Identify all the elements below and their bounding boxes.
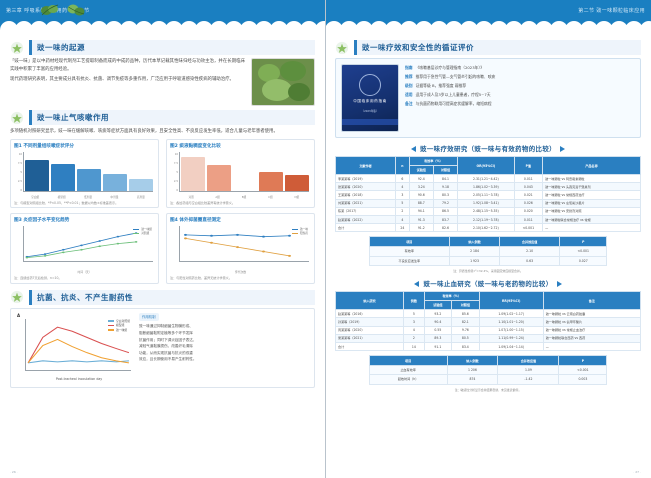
bar (77, 169, 101, 190)
banner-arrow-right-icon (560, 146, 565, 152)
kv-value: 证据等级 B，推荐强度 弱推荐 (416, 82, 635, 89)
cell-author: 陈某（2017） (336, 207, 396, 215)
chart-card-2: 图2 痰液黏稠度变化比较 10 7.5 5 2.5 0 (166, 139, 315, 209)
table-row: 周某某等（2020） 4 0.55 9.76 1.07(1.00~1.15) 豉… (336, 326, 641, 334)
bar (103, 174, 127, 190)
summary-table-2: 项目 纳入例数 合并效应值 P 止血有效率 1 206 1.09 <0.001 (369, 355, 608, 385)
cell-control: 9.76 (452, 326, 479, 334)
sum2-cell: -1.42 (498, 375, 559, 384)
sum2-th-effect: 合并效应值 (498, 356, 559, 366)
cell-note: 豉一味颗粒 vs 氨甲环酸片 (543, 318, 640, 326)
chart-yaxis-2 (179, 152, 180, 192)
chart-legend-4: 豉一味 阳性药 (292, 227, 308, 235)
cell-control: 85.6 (452, 310, 479, 318)
cell-author: 张某某等（2020） (336, 183, 396, 191)
cell-note: — (543, 342, 640, 350)
sum-cell: 0.027 (560, 256, 607, 265)
charts-row-1: 图1 不同剂量组咳嗽症状评分 10 7.5 5 2.5 0 (10, 139, 315, 209)
chart-title-4: 图4 体外抑菌圈直径测定 (170, 217, 311, 223)
mechanism-legend: 空白对照组 模型组 豉一味组 (108, 319, 130, 332)
table1-banner-text: 豉一味疗效研究（豉一味与有效药物的比较） (420, 144, 556, 153)
book-cover-image: 中国临床用药指南 （2023年版） (341, 64, 399, 132)
cell-n: 4 (396, 183, 410, 191)
cell-control: 86.5 (433, 207, 457, 215)
cell-author: 李某某等（2019） (336, 175, 396, 183)
summary-header-row: 项目 纳入例数 合并效应值 P (369, 356, 607, 366)
table-row-total: 合计 14 91.1 83.4 1.09(1.04~1.14) — (336, 342, 641, 350)
guideline-kv-list: 指南《咳嗽基层诊疗与管理指南（2023年）》 推荐推荐用于急性气管—支气管炎引起… (405, 64, 635, 132)
chart-title-3: 图3 炎症因子水平变化趋势 (14, 217, 155, 223)
sum2-th-item: 项目 (369, 356, 447, 366)
kv-key: 指南 (405, 64, 413, 71)
cell-p: 0.021 (514, 191, 542, 199)
summary-table-1: 项目 纳入例数 合并效应值 P 有效率 2 184 2.10 <0.001 (369, 236, 608, 266)
cell-product: 豉一味颗粒 vs 左氧氟沙星片 (543, 199, 641, 207)
chart-card-4: 图4 体外抑菌圈直径测定 (166, 213, 315, 284)
cell-product: 豉一味颗粒 vs 安慰剂对照 (543, 207, 641, 215)
kv-value: 与抗菌药物联用可提高症状缓解率，缩短病程 (416, 100, 635, 107)
cell-control: 79.2 (433, 199, 457, 207)
table-row: 王某某等（2018） 3 90.6 80.3 2.05(1.11~3.78) 0… (336, 191, 641, 199)
chart-xlabel-3: 时间（天） (14, 270, 155, 274)
table1-banner: 豉一味疗效研究（豉一味与有效药物的比较） (335, 144, 641, 153)
kv-value: 推荐用于急性气管—支气管炎引起的咳嗽、咳痰 (416, 73, 635, 80)
cell-product: 豉一味颗粒 vs 常规西药治疗 (543, 191, 641, 199)
kv-value: 《咳嗽基层诊疗与管理指南（2023年）》 (416, 64, 635, 71)
page-gutter-divider (325, 0, 326, 478)
sum-cell: <0.001 (560, 247, 607, 256)
sum-cell: 不良反应发生率 (369, 256, 449, 265)
banner-arrow-left-icon-2 (414, 281, 419, 287)
cell-author: 合计 (336, 224, 396, 232)
kv-row: 适用适用于成人及3岁以上儿童患者，疗程5~7天 (405, 91, 635, 98)
table-row: 张某某等（2020） 4 3.24 9.18 1.86(1.02~3.39) 0… (336, 183, 641, 191)
cell-n: 3 (396, 191, 410, 199)
chart-xticks-2: 对照 A组 B组 C组 D组 (179, 195, 309, 199)
cell-control: 84.1 (433, 175, 457, 183)
sum2-cell: 874 (447, 375, 498, 384)
cell-product: 豉一味颗粒联合常规治疗 vs 常规 (543, 216, 641, 224)
cell-control: 82.6 (433, 224, 457, 232)
sum2-cell: 止血有效率 (369, 366, 447, 375)
mechanism-line-5: 功能，从而实现抗菌与抗炎的双重 (139, 350, 310, 357)
cell-test: 89.3 (424, 334, 451, 342)
cell-or: 2.48(1.15~5.35) (458, 207, 515, 215)
origin-body: 「豉一味」是以中药材经现代制剂工艺提取制备而成的中成药品种，历代本草记载其性味归… (10, 58, 315, 106)
cell-p: 0.020 (514, 207, 542, 215)
th2-rr: RR(95%CI) (479, 292, 543, 310)
cell-test: 91.2 (409, 224, 433, 232)
cell-n: 6 (396, 175, 410, 183)
chart-legend-3: 豉一味组 对照组 (133, 227, 152, 235)
right-page-number: · 27 · (633, 470, 641, 474)
cell-test: 90.4 (424, 318, 451, 326)
cell-test: 91.1 (424, 342, 451, 350)
right-content: 豉一味疗效和安全性的循证评价 中国临床用药指南 （2023年版） 指南《咳嗽基层… (325, 30, 651, 392)
mechanism-xlabel: Post-tracheal inoculation day (25, 377, 133, 381)
chart-plot-3: 豉一味组 对照组 (14, 225, 155, 269)
book-band (342, 119, 398, 125)
chart-yaxis-1 (23, 152, 24, 192)
bar (233, 168, 257, 190)
plant-photo (251, 58, 315, 106)
cell-control: 83.7 (433, 216, 457, 224)
cell-n: 5 (396, 199, 410, 207)
mechanism-line-6: 效应，且长期使用不易产生耐药性。 (139, 356, 310, 363)
origin-paragraph-1: 「豉一味」是以中药材经现代制剂工艺提取制备而成的中成药品种，历代本草记载其性味归… (10, 58, 245, 73)
cell-control: 80.5 (452, 334, 479, 342)
section-heading-text-3: 抗菌、抗炎、不产生耐药性 (29, 290, 315, 305)
cell-study: 赵某某等（2016） (336, 310, 404, 318)
cell-test: 88.7 (409, 199, 433, 207)
sum-cell: 2 184 (449, 247, 499, 256)
section-title-origin: 豉一味的起源 (10, 40, 315, 55)
table-row: 孙某等（2019） 3 90.4 82.1 1.10(1.01~1.20) 豉一… (336, 318, 641, 326)
sum-th-p: P (560, 237, 607, 247)
cell-test: 3.24 (409, 183, 433, 191)
left-lace-border (0, 21, 325, 30)
table-header-row: 纳入研究 例数 有效率（%） RR(95%CI) 备注 (336, 292, 641, 301)
kv-key: 适用 (405, 91, 413, 98)
th2-test: 试验组 (424, 301, 451, 310)
kv-row: 级别证据等级 B，推荐强度 弱推荐 (405, 82, 635, 89)
right-lace-border (325, 21, 651, 30)
cell-rr: 1.09(1.02~1.17) (479, 310, 543, 318)
cell-study: 孙某等（2019） (336, 318, 404, 326)
chart-note-4: 注：与阳性对照药比较，差异无统计学意义。 (170, 276, 311, 281)
summary-row: 止血有效率 1 206 1.09 <0.001 (369, 366, 607, 375)
bar (129, 179, 153, 191)
cell-n: 3 (404, 318, 425, 326)
section-title-cough: 豉一味止气咳嗽作用 (10, 110, 315, 125)
right-page: 第二节 豉一味颗粒临床应用 豉一味疗效和安全性的循证评价 (325, 0, 651, 478)
cell-study: 合计 (336, 342, 404, 350)
cell-rr: 1.07(1.00~1.15) (479, 326, 543, 334)
cell-rr: 1.09(1.04~1.14) (479, 342, 543, 350)
cell-note: 豉一味颗粒 vs 云南白药胶囊 (543, 310, 640, 318)
summary-row: 起效时间（h） 874 -1.42 0.003 (369, 375, 607, 384)
chart-xlabel-4: 传代次数 (170, 270, 311, 274)
guideline-info-box: 中国临床用药指南 （2023年版） 指南《咳嗽基层诊疗与管理指南（2023年）》… (335, 58, 641, 138)
mechanism-line-1: 豉一味通过抑制细菌生物膜形成、 (139, 323, 310, 330)
cell-n: 2 (396, 207, 410, 215)
cell-or: 1.86(1.02~3.39) (458, 183, 515, 191)
table2-banner-text: 豉一味止血研究（豉一味与老药物的比较） (423, 279, 552, 288)
sum-cell: 有效率 (369, 247, 449, 256)
th2-rate: 有效率（%） (424, 292, 479, 301)
leaf-decoration-icon-2 (66, 2, 86, 18)
bar (181, 157, 205, 191)
cell-test: 92.4 (409, 175, 433, 183)
kv-key: 备注 (405, 100, 413, 107)
right-header-band: 第二节 豉一味颗粒临床应用 (325, 0, 651, 30)
th2-n: 例数 (404, 292, 425, 310)
kv-row: 推荐推荐用于急性气管—支气管炎引起的咳嗽、咳痰 (405, 73, 635, 80)
sum-cell: 2.10 (500, 247, 560, 256)
cell-test: 94.1 (409, 207, 433, 215)
bar (285, 175, 309, 191)
chart-card-3: 图3 炎症因子水平变化趋势 (10, 213, 159, 284)
mechanism-line-3: 抗菌作用；同时下调炎症因子表达， (139, 337, 310, 344)
cell-note: 豉一味颗粒 vs 常规止血治疗 (543, 326, 640, 334)
chart-yticks-1: 10 7.5 5 2.5 0 (14, 153, 23, 192)
table-row: 刘某某等（2021） 5 88.7 79.2 1.92(1.08~3.41) 0… (336, 199, 641, 207)
cell-study: 周某某等（2020） (336, 326, 404, 334)
bar (259, 172, 283, 190)
efficacy-table: 文献作者 n 有效率（%） OR(95%CI) P值 产品名称 试验组 对照组 (335, 156, 641, 232)
left-content: 豉一味的起源 「豉一味」是以中药材经现代制剂工艺提取制备而成的中成药品种，历代本… (0, 30, 325, 388)
chart-title-2: 图2 痰液黏稠度变化比较 (170, 143, 311, 149)
cell-note: 豉一味颗粒联合西药 vs 西药 (543, 334, 640, 342)
cell-or: 2.10(1.62~2.72) (458, 224, 515, 232)
table-row: 赵某某等（2022） 4 91.3 83.7 2.12(1.19~3.78) 0… (336, 216, 641, 224)
cell-control: 80.3 (433, 191, 457, 199)
table-row: 李某某等（2019） 6 92.4 84.1 2.31(1.21~4.42) 0… (336, 175, 641, 183)
table2-banner: 豉一味止血研究（豉一味与老药物的比较） (335, 279, 641, 288)
kv-key: 推荐 (405, 73, 413, 80)
table-header-row: 文献作者 n 有效率（%） OR(95%CI) P值 产品名称 (336, 157, 641, 166)
bar (51, 164, 75, 191)
mechanism-box: A 空白对照组 模型组 (10, 308, 315, 388)
th-rate: 有效率（%） (409, 157, 457, 166)
flower-badge-icon-4 (335, 41, 349, 55)
sum-th-item: 项目 (369, 237, 449, 247)
chart-title-1: 图1 不同剂量组咳嗽症状评分 (14, 143, 155, 149)
cell-n: 4 (404, 326, 425, 334)
chart-lines-4 (179, 227, 309, 262)
cell-author: 赵某某等（2022） (336, 216, 396, 224)
chart-xaxis-2 (179, 191, 309, 192)
mechanism-line-2: 阻断细菌黏附定植等多个环节发挥 (139, 330, 310, 337)
chart-bars-2 (181, 153, 309, 191)
cell-product: 豉一味颗粒 vs 头孢克洛干混悬剂 (543, 183, 641, 191)
mechanism-line-4: 减轻气道黏膜损伤，改善纤毛清除 (139, 343, 310, 350)
cell-p: <0.001 (514, 224, 542, 232)
banner-arrow-left-icon (411, 146, 416, 152)
chart-xticks-1: 空白组 模型组 低剂量 中剂量 高剂量 (23, 195, 153, 199)
sum-cell: 1 923 (449, 256, 499, 265)
book-title: 中国临床用药指南 (346, 99, 394, 104)
cell-product: 豉一味颗粒 vs 阿奇霉素颗粒 (543, 175, 641, 183)
book-spread-page: 第三章 呼吸系统疾病用药 · 第一节 (0, 0, 651, 478)
table-row: 吴某某等（2021） 2 89.3 80.5 1.11(0.99~1.24) 豉… (336, 334, 641, 342)
sum2-cell: 1.09 (498, 366, 559, 375)
cell-author: 王某某等（2018） (336, 191, 396, 199)
left-page-number: · 26 · (10, 470, 18, 474)
th-product: 产品名称 (543, 157, 641, 175)
sum2-cell: 0.003 (559, 375, 607, 384)
cell-test: 93.2 (424, 310, 451, 318)
chart-note-3: 注：连续给药7天后检测，n=10。 (14, 276, 155, 281)
banner-arrow-right-icon-2 (557, 281, 562, 287)
sum-cell: 0.63 (500, 256, 560, 265)
th2-control: 对照组 (452, 301, 479, 310)
sum2-cell: 起效时间（h） (369, 375, 447, 384)
mechanism-plot-label: A (17, 313, 20, 318)
section-heading-text-2: 豉一味止气咳嗽作用 (29, 110, 315, 125)
chart-plot-2: 10 7.5 5 2.5 0 (170, 151, 311, 199)
summary2-footnote: 注：敏感性分析显示合并结果稳健，未见发表偏倚。 (335, 388, 641, 392)
chart-note-1: 注：与模型对照组比较，*P<0.05，**P<0.01；数据以均数±标准差表示。 (14, 201, 155, 206)
bar (25, 160, 49, 191)
section-heading-text-4: 豉一味疗效和安全性的循证评价 (354, 40, 641, 55)
table-row-total: 合计 24 91.2 82.6 2.10(1.62~2.72) <0.001 — (336, 224, 641, 232)
th-or: OR(95%CI) (458, 157, 515, 175)
section-title-mechanism: 抗菌、抗炎、不产生耐药性 (10, 290, 315, 305)
cough-paragraph: 多项随机对照研究显示，豉一味在缓解咳嗽、咳痰等症状方面具有良好效果，且安全性高、… (10, 128, 315, 136)
origin-paragraph-2: 现代药理研究表明，其主要成分具有抗炎、抗菌、调节免疫等多重作用，广泛应用于呼吸道… (10, 76, 245, 84)
leaf-decoration-icon (40, 2, 60, 18)
cell-test: 90.6 (409, 191, 433, 199)
chart-bars-1 (25, 153, 153, 191)
chart-plot-1: 10 7.5 5 2.5 0 (14, 151, 155, 199)
section-title-evidence: 豉一味疗效和安全性的循证评价 (335, 40, 641, 55)
sum2-cell: <0.001 (559, 366, 607, 375)
th2-study: 纳入研究 (336, 292, 404, 310)
summary-row: 不良反应发生率 1 923 0.63 0.027 (369, 256, 607, 265)
th-control-group: 对照组 (433, 166, 457, 175)
cell-test: 0.55 (424, 326, 451, 334)
cell-n: 2 (404, 334, 425, 342)
cell-author: 刘某某等（2021） (336, 199, 396, 207)
cell-study: 吴某某等（2021） (336, 334, 404, 342)
summary-header-row: 项目 纳入例数 合并效应值 P (369, 237, 607, 247)
th2-note: 备注 (543, 292, 640, 310)
hemostasis-table: 纳入研究 例数 有效率（%） RR(95%CI) 备注 试验组 对照组 (335, 291, 641, 351)
cell-n: 5 (404, 310, 425, 318)
chart-card-1: 图1 不同剂量组咳嗽症状评分 10 7.5 5 2.5 0 (10, 139, 159, 209)
sum2-cell: 1 206 (447, 366, 498, 375)
mechanism-tag: 作用机制 (139, 313, 159, 321)
flower-badge-icon-2 (10, 111, 24, 125)
cell-test: 91.3 (409, 216, 433, 224)
cell-p: 0.043 (514, 183, 542, 191)
cell-rr: 1.10(1.01~1.20) (479, 318, 543, 326)
right-header-text: 第二节 豉一味颗粒临床应用 (578, 7, 645, 14)
summary-row: 有效率 2 184 2.10 <0.001 (369, 247, 607, 256)
th-n: n (396, 157, 410, 175)
cell-n: 24 (396, 224, 410, 232)
mechanism-xaxis (25, 370, 131, 371)
kv-row: 指南《咳嗽基层诊疗与管理指南（2023年）》 (405, 64, 635, 71)
cell-or: 2.31(1.21~4.42) (458, 175, 515, 183)
cell-control: 82.1 (452, 318, 479, 326)
sum-th-n: 纳入例数 (449, 237, 499, 247)
chart-plot-4: 豉一味 阳性药 (170, 225, 311, 269)
cell-n: 14 (404, 342, 425, 350)
charts-row-2: 图3 炎症因子水平变化趋势 (10, 213, 315, 284)
th-test-group: 试验组 (409, 166, 433, 175)
book-emblem-icon (359, 74, 381, 96)
bar (207, 165, 231, 191)
chart-xaxis-1 (23, 191, 153, 192)
cell-or: 2.12(1.19~3.78) (458, 216, 515, 224)
cell-product: — (543, 224, 641, 232)
mechanism-plot: A 空白对照组 模型组 (15, 313, 133, 383)
table-row: 陈某（2017） 2 94.1 86.5 2.48(1.15~5.35) 0.0… (336, 207, 641, 215)
chart-note-2: 注：各给药组与空白组比较差异有统计学意义。 (170, 201, 311, 206)
cell-p: 0.011 (514, 216, 542, 224)
kv-row: 备注与抗菌药物联用可提高症状缓解率，缩短病程 (405, 100, 635, 107)
cell-or: 2.05(1.11~3.78) (458, 191, 515, 199)
kv-key: 级别 (405, 82, 413, 89)
cell-rr: 1.11(0.99~1.24) (479, 334, 543, 342)
cell-control: 9.18 (433, 183, 457, 191)
flower-badge-icon (10, 41, 24, 55)
summary1-footnote: 注：异质性检验 I²=32.4%，采用固定效应模型合并。 (335, 269, 641, 273)
book-subtitle: （2023年版） (346, 109, 394, 113)
sum-th-effect: 合并效应值 (500, 237, 560, 247)
sum2-th-n: 纳入例数 (447, 356, 498, 366)
section-heading-text: 豉一味的起源 (29, 40, 315, 55)
cell-or: 1.92(1.08~3.41) (458, 199, 515, 207)
mechanism-text: 作用机制 豉一味通过抑制细菌生物膜形成、 阻断细菌黏附定植等多个环节发挥 抗菌作… (139, 313, 310, 383)
cell-p: 0.011 (514, 175, 542, 183)
cell-control: 83.4 (452, 342, 479, 350)
left-header-band: 第三章 呼吸系统疾病用药 · 第一节 (0, 0, 325, 30)
sum2-th-p: P (559, 356, 607, 366)
left-page: 第三章 呼吸系统疾病用药 · 第一节 (0, 0, 325, 478)
kv-value: 适用于成人及3岁以上儿童患者，疗程5~7天 (416, 91, 635, 98)
table-row: 赵某某等（2016） 5 93.2 85.6 1.09(1.02~1.17) 豉… (336, 310, 641, 318)
flower-badge-icon-3 (10, 290, 24, 304)
th-p: P值 (514, 157, 542, 175)
th-author: 文献作者 (336, 157, 396, 175)
cell-n: 4 (396, 216, 410, 224)
chart-yticks-2: 10 7.5 5 2.5 0 (170, 153, 179, 192)
cell-p: 0.026 (514, 199, 542, 207)
